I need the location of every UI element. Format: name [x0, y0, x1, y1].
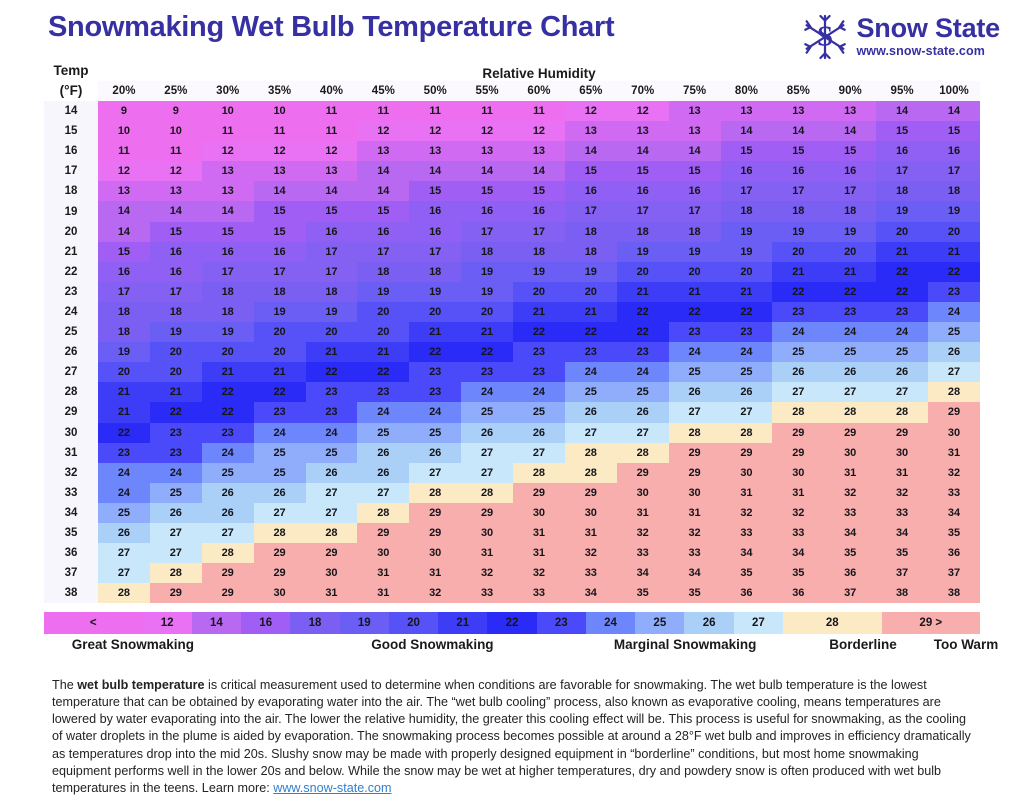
- cell-35-90: 34: [824, 523, 876, 543]
- cell-21-100: 21: [928, 242, 980, 262]
- cell-32-45: 26: [357, 463, 409, 483]
- cell-20-65: 18: [565, 222, 617, 242]
- cell-17-25: 12: [150, 161, 202, 181]
- cell-22-20: 16: [98, 262, 150, 282]
- table-row: 231717181818191919202021212122222223: [44, 282, 980, 302]
- cell-23-25: 17: [150, 282, 202, 302]
- cell-20-50: 16: [409, 222, 461, 242]
- cell-36-85: 34: [772, 543, 824, 563]
- cell-17-85: 16: [772, 161, 824, 181]
- humidity-axis-label: Relative Humidity: [98, 62, 980, 81]
- row-header-temp-18: 18: [44, 181, 98, 201]
- cell-36-35: 29: [254, 543, 306, 563]
- cell-21-90: 20: [824, 242, 876, 262]
- legend-label-good-snowmaking: Good Snowmaking: [371, 637, 493, 652]
- cell-25-60: 22: [513, 322, 565, 342]
- cell-34-60: 30: [513, 503, 565, 523]
- column-header-100: 100%: [928, 81, 980, 101]
- cell-38-65: 34: [565, 583, 617, 603]
- cell-17-45: 14: [357, 161, 409, 181]
- cell-27-50: 23: [409, 362, 461, 382]
- cell-25-25: 19: [150, 322, 202, 342]
- cell-29-95: 28: [876, 402, 928, 422]
- cell-34-25: 26: [150, 503, 202, 523]
- cell-32-25: 24: [150, 463, 202, 483]
- cell-24-80: 22: [721, 302, 773, 322]
- cell-37-45: 31: [357, 563, 409, 583]
- page-header: Snowmaking Wet Bulb Temperature Chart S: [0, 0, 1024, 62]
- table-row: 372728292930313132323334343535363737: [44, 563, 980, 583]
- cell-37-30: 29: [202, 563, 254, 583]
- cell-33-25: 25: [150, 483, 202, 503]
- cell-38-35: 30: [254, 583, 306, 603]
- table-row: 322424252526262727282829293030313132: [44, 463, 980, 483]
- cell-26-40: 21: [306, 342, 358, 362]
- cell-16-100: 16: [928, 141, 980, 161]
- cell-26-100: 26: [928, 342, 980, 362]
- cell-34-85: 32: [772, 503, 824, 523]
- cell-33-35: 26: [254, 483, 306, 503]
- cell-24-65: 21: [565, 302, 617, 322]
- cell-16-90: 15: [824, 141, 876, 161]
- cell-16-60: 13: [513, 141, 565, 161]
- cell-26-20: 19: [98, 342, 150, 362]
- brand-block: S Snow State www.snow-state.com: [804, 12, 1000, 60]
- cell-30-45: 25: [357, 423, 409, 443]
- cell-31-60: 27: [513, 443, 565, 463]
- cell-30-80: 28: [721, 423, 773, 443]
- cell-32-80: 30: [721, 463, 773, 483]
- cell-18-75: 16: [669, 181, 721, 201]
- cell-32-75: 29: [669, 463, 721, 483]
- cell-33-80: 31: [721, 483, 773, 503]
- cell-33-65: 29: [565, 483, 617, 503]
- cell-33-100: 33: [928, 483, 980, 503]
- cell-37-100: 37: [928, 563, 980, 583]
- cell-29-75: 27: [669, 402, 721, 422]
- cell-25-95: 24: [876, 322, 928, 342]
- legend-segment-23: 23: [537, 612, 586, 634]
- cell-26-80: 24: [721, 342, 773, 362]
- brand-url: www.snow-state.com: [856, 44, 984, 58]
- cell-33-95: 32: [876, 483, 928, 503]
- cell-24-45: 20: [357, 302, 409, 322]
- cell-38-20: 28: [98, 583, 150, 603]
- cell-17-60: 14: [513, 161, 565, 181]
- legend-label-great-snowmaking: Great Snowmaking: [72, 637, 194, 652]
- humidity-title-row: Temp Relative Humidity: [44, 62, 980, 81]
- cell-28-65: 25: [565, 382, 617, 402]
- cell-16-70: 14: [617, 141, 669, 161]
- column-header-80: 80%: [721, 81, 773, 101]
- table-row: 362727282929303031313233333434353536: [44, 543, 980, 563]
- cell-14-95: 14: [876, 101, 928, 121]
- cell-15-100: 15: [928, 121, 980, 141]
- cell-17-75: 15: [669, 161, 721, 181]
- cell-34-70: 31: [617, 503, 669, 523]
- row-header-temp-26: 26: [44, 342, 98, 362]
- cell-37-60: 32: [513, 563, 565, 583]
- row-header-temp-38: 38: [44, 583, 98, 603]
- cell-23-90: 22: [824, 282, 876, 302]
- cell-33-30: 26: [202, 483, 254, 503]
- cell-25-75: 23: [669, 322, 721, 342]
- cell-35-45: 29: [357, 523, 409, 543]
- cell-34-35: 27: [254, 503, 306, 523]
- legend-segment-26: 26: [684, 612, 733, 634]
- table-row: 1499101011111111111212131313131414: [44, 101, 980, 121]
- color-scale-legend: <121416181920212223242526272829 > Great …: [44, 612, 980, 659]
- cell-29-50: 24: [409, 402, 461, 422]
- cell-22-85: 21: [772, 262, 824, 282]
- cell-27-45: 22: [357, 362, 409, 382]
- cell-16-80: 15: [721, 141, 773, 161]
- cell-18-20: 13: [98, 181, 150, 201]
- cell-21-55: 18: [461, 242, 513, 262]
- cell-22-25: 16: [150, 262, 202, 282]
- cell-35-40: 28: [306, 523, 358, 543]
- cell-18-85: 17: [772, 181, 824, 201]
- cell-35-100: 35: [928, 523, 980, 543]
- row-header-temp-31: 31: [44, 443, 98, 463]
- cell-29-25: 22: [150, 402, 202, 422]
- cell-23-50: 19: [409, 282, 461, 302]
- cell-18-70: 16: [617, 181, 669, 201]
- row-header-temp-32: 32: [44, 463, 98, 483]
- cell-23-75: 21: [669, 282, 721, 302]
- cell-31-100: 31: [928, 443, 980, 463]
- cell-31-80: 29: [721, 443, 773, 463]
- cell-31-25: 23: [150, 443, 202, 463]
- cell-24-60: 21: [513, 302, 565, 322]
- legend-segment-25: 25: [635, 612, 684, 634]
- cell-24-90: 23: [824, 302, 876, 322]
- cell-33-20: 24: [98, 483, 150, 503]
- cell-31-70: 28: [617, 443, 669, 463]
- legend-segment-27: 27: [734, 612, 783, 634]
- cell-30-90: 29: [824, 423, 876, 443]
- cell-26-85: 25: [772, 342, 824, 362]
- cell-22-95: 22: [876, 262, 928, 282]
- cell-30-30: 23: [202, 423, 254, 443]
- cell-23-30: 18: [202, 282, 254, 302]
- row-header-temp-19: 19: [44, 201, 98, 221]
- cell-36-50: 30: [409, 543, 461, 563]
- cell-22-30: 17: [202, 262, 254, 282]
- cell-19-50: 16: [409, 201, 461, 221]
- cell-27-60: 23: [513, 362, 565, 382]
- cell-28-80: 26: [721, 382, 773, 402]
- cell-31-65: 28: [565, 443, 617, 463]
- row-header-temp-30: 30: [44, 423, 98, 443]
- table-row: 292122222323242425252626272728282829: [44, 402, 980, 422]
- table-row: 191414141515151616161717171818181919: [44, 201, 980, 221]
- cell-14-75: 13: [669, 101, 721, 121]
- cell-36-70: 33: [617, 543, 669, 563]
- cell-29-60: 25: [513, 402, 565, 422]
- description-lead: The: [52, 678, 77, 692]
- cell-29-100: 29: [928, 402, 980, 422]
- table-row: 332425262627272828292930303131323233: [44, 483, 980, 503]
- row-header-temp-15: 15: [44, 121, 98, 141]
- cell-38-50: 32: [409, 583, 461, 603]
- cell-38-25: 29: [150, 583, 202, 603]
- legend-segment-16: 16: [241, 612, 290, 634]
- cell-21-95: 21: [876, 242, 928, 262]
- legend-segment-20: 20: [389, 612, 438, 634]
- cell-25-80: 23: [721, 322, 773, 342]
- cell-15-85: 14: [772, 121, 824, 141]
- cell-29-45: 24: [357, 402, 409, 422]
- cell-15-35: 11: [254, 121, 306, 141]
- table-row: 382829293031313233333435353636373838: [44, 583, 980, 603]
- cell-32-55: 27: [461, 463, 513, 483]
- cell-28-85: 27: [772, 382, 824, 402]
- table-body: 1499101011111111111212131313131414151010…: [44, 101, 980, 603]
- cell-15-60: 12: [513, 121, 565, 141]
- cell-25-65: 22: [565, 322, 617, 342]
- cell-27-70: 24: [617, 362, 669, 382]
- cell-24-95: 23: [876, 302, 928, 322]
- cell-16-55: 13: [461, 141, 513, 161]
- cell-33-90: 32: [824, 483, 876, 503]
- cell-23-20: 17: [98, 282, 150, 302]
- cell-18-25: 13: [150, 181, 202, 201]
- cell-20-35: 15: [254, 222, 306, 242]
- cell-28-90: 27: [824, 382, 876, 402]
- cell-14-55: 11: [461, 101, 513, 121]
- cell-25-20: 18: [98, 322, 150, 342]
- temp-axis-label-line1: Temp: [44, 62, 98, 81]
- cell-25-35: 20: [254, 322, 306, 342]
- cell-18-50: 15: [409, 181, 461, 201]
- cell-15-75: 13: [669, 121, 721, 141]
- cell-37-85: 35: [772, 563, 824, 583]
- cell-31-75: 29: [669, 443, 721, 463]
- cell-35-30: 27: [202, 523, 254, 543]
- learn-more-link[interactable]: www.snow-state.com: [273, 781, 391, 795]
- cell-24-100: 24: [928, 302, 980, 322]
- cell-30-75: 28: [669, 423, 721, 443]
- cell-29-20: 21: [98, 402, 150, 422]
- cell-31-20: 23: [98, 443, 150, 463]
- row-header-temp-36: 36: [44, 543, 98, 563]
- table-row: 151010111111121212121313131414141515: [44, 121, 980, 141]
- cell-20-55: 17: [461, 222, 513, 242]
- cell-23-55: 19: [461, 282, 513, 302]
- cell-38-70: 35: [617, 583, 669, 603]
- cell-14-40: 11: [306, 101, 358, 121]
- description-text: is critical measurement used to determin…: [52, 678, 971, 796]
- row-header-temp-28: 28: [44, 382, 98, 402]
- cell-16-75: 14: [669, 141, 721, 161]
- cell-30-40: 24: [306, 423, 358, 443]
- cell-20-95: 20: [876, 222, 928, 242]
- cell-31-50: 26: [409, 443, 461, 463]
- cell-32-100: 32: [928, 463, 980, 483]
- cell-14-90: 13: [824, 101, 876, 121]
- cell-38-75: 35: [669, 583, 721, 603]
- cell-21-40: 17: [306, 242, 358, 262]
- cell-19-80: 18: [721, 201, 773, 221]
- cell-25-85: 24: [772, 322, 824, 342]
- cell-27-90: 26: [824, 362, 876, 382]
- table-row: 261920202021212222232323242425252526: [44, 342, 980, 362]
- cell-34-55: 29: [461, 503, 513, 523]
- cell-20-25: 15: [150, 222, 202, 242]
- cell-24-55: 20: [461, 302, 513, 322]
- cell-19-30: 14: [202, 201, 254, 221]
- legend-segment-14: 14: [192, 612, 241, 634]
- column-header-row: (°F) 20%25%30%35%40%45%50%55%60%65%70%75…: [44, 81, 980, 101]
- table-row: 312323242525262627272828292929303031: [44, 443, 980, 463]
- cell-36-100: 36: [928, 543, 980, 563]
- cell-23-95: 22: [876, 282, 928, 302]
- cell-17-65: 15: [565, 161, 617, 181]
- cell-23-60: 20: [513, 282, 565, 302]
- table-row: 221616171717181819191920202021212222: [44, 262, 980, 282]
- cell-15-55: 12: [461, 121, 513, 141]
- cell-17-50: 14: [409, 161, 461, 181]
- cell-38-30: 29: [202, 583, 254, 603]
- row-header-temp-37: 37: [44, 563, 98, 583]
- table-row: 342526262727282929303031313232333334: [44, 503, 980, 523]
- column-header-60: 60%: [513, 81, 565, 101]
- row-header-temp-22: 22: [44, 262, 98, 282]
- cell-22-35: 17: [254, 262, 306, 282]
- snowflake-monogram-icon: S: [804, 14, 846, 60]
- cell-36-25: 27: [150, 543, 202, 563]
- cell-35-80: 33: [721, 523, 773, 543]
- cell-28-60: 24: [513, 382, 565, 402]
- cell-29-65: 26: [565, 402, 617, 422]
- cell-30-35: 24: [254, 423, 306, 443]
- column-header-30: 30%: [202, 81, 254, 101]
- cell-17-70: 15: [617, 161, 669, 181]
- cell-36-20: 27: [98, 543, 150, 563]
- row-header-temp-34: 34: [44, 503, 98, 523]
- cell-28-30: 22: [202, 382, 254, 402]
- cell-32-70: 29: [617, 463, 669, 483]
- cell-15-70: 13: [617, 121, 669, 141]
- cell-14-100: 14: [928, 101, 980, 121]
- cell-36-30: 28: [202, 543, 254, 563]
- cell-34-50: 29: [409, 503, 461, 523]
- cell-31-40: 25: [306, 443, 358, 463]
- cell-32-35: 25: [254, 463, 306, 483]
- cell-14-50: 11: [409, 101, 461, 121]
- cell-19-40: 15: [306, 201, 358, 221]
- cell-19-85: 18: [772, 201, 824, 221]
- cell-17-20: 12: [98, 161, 150, 181]
- cell-33-60: 29: [513, 483, 565, 503]
- row-header-temp-21: 21: [44, 242, 98, 262]
- cell-16-45: 13: [357, 141, 409, 161]
- cell-27-80: 25: [721, 362, 773, 382]
- cell-38-95: 38: [876, 583, 928, 603]
- cell-14-45: 11: [357, 101, 409, 121]
- cell-22-90: 21: [824, 262, 876, 282]
- cell-16-65: 14: [565, 141, 617, 161]
- cell-24-70: 22: [617, 302, 669, 322]
- cell-19-65: 17: [565, 201, 617, 221]
- cell-32-30: 25: [202, 463, 254, 483]
- cell-32-95: 31: [876, 463, 928, 483]
- cell-19-60: 16: [513, 201, 565, 221]
- cell-18-100: 18: [928, 181, 980, 201]
- cell-24-20: 18: [98, 302, 150, 322]
- cell-19-25: 14: [150, 201, 202, 221]
- cell-30-65: 27: [565, 423, 617, 443]
- column-header-85: 85%: [772, 81, 824, 101]
- cell-33-55: 28: [461, 483, 513, 503]
- cell-15-25: 10: [150, 121, 202, 141]
- cell-22-80: 20: [721, 262, 773, 282]
- cell-15-45: 12: [357, 121, 409, 141]
- cell-20-80: 19: [721, 222, 773, 242]
- cell-23-80: 21: [721, 282, 773, 302]
- cell-38-45: 31: [357, 583, 409, 603]
- cell-26-75: 24: [669, 342, 721, 362]
- cell-26-45: 21: [357, 342, 409, 362]
- cell-26-90: 25: [824, 342, 876, 362]
- cell-27-75: 25: [669, 362, 721, 382]
- legend-segment-19: 19: [340, 612, 389, 634]
- table-row: 251819192020202121222222232324242425: [44, 322, 980, 342]
- cell-31-90: 30: [824, 443, 876, 463]
- cell-19-70: 17: [617, 201, 669, 221]
- column-header-55: 55%: [461, 81, 513, 101]
- cell-14-60: 11: [513, 101, 565, 121]
- cell-19-55: 16: [461, 201, 513, 221]
- cell-29-90: 28: [824, 402, 876, 422]
- cell-38-80: 36: [721, 583, 773, 603]
- cell-33-70: 30: [617, 483, 669, 503]
- cell-26-95: 25: [876, 342, 928, 362]
- cell-22-50: 18: [409, 262, 461, 282]
- cell-36-80: 34: [721, 543, 773, 563]
- column-header-20: 20%: [98, 81, 150, 101]
- cell-20-30: 15: [202, 222, 254, 242]
- cell-25-50: 21: [409, 322, 461, 342]
- column-header-45: 45%: [357, 81, 409, 101]
- row-header-temp-33: 33: [44, 483, 98, 503]
- cell-27-85: 26: [772, 362, 824, 382]
- cell-34-80: 32: [721, 503, 773, 523]
- cell-19-20: 14: [98, 201, 150, 221]
- column-header-40: 40%: [306, 81, 358, 101]
- cell-20-90: 19: [824, 222, 876, 242]
- cell-14-85: 13: [772, 101, 824, 121]
- cell-21-75: 19: [669, 242, 721, 262]
- cell-32-90: 31: [824, 463, 876, 483]
- wet-bulb-table-wrap: Temp Relative Humidity (°F) 20%25%30%35%…: [44, 62, 980, 603]
- cell-21-45: 17: [357, 242, 409, 262]
- cell-35-65: 31: [565, 523, 617, 543]
- cell-27-20: 20: [98, 362, 150, 382]
- cell-27-30: 21: [202, 362, 254, 382]
- cell-19-75: 17: [669, 201, 721, 221]
- cell-30-55: 26: [461, 423, 513, 443]
- cell-17-35: 13: [254, 161, 306, 181]
- cell-29-30: 22: [202, 402, 254, 422]
- cell-23-65: 20: [565, 282, 617, 302]
- cell-22-60: 19: [513, 262, 565, 282]
- cell-31-95: 30: [876, 443, 928, 463]
- cell-15-40: 11: [306, 121, 358, 141]
- cell-24-50: 20: [409, 302, 461, 322]
- cell-26-55: 22: [461, 342, 513, 362]
